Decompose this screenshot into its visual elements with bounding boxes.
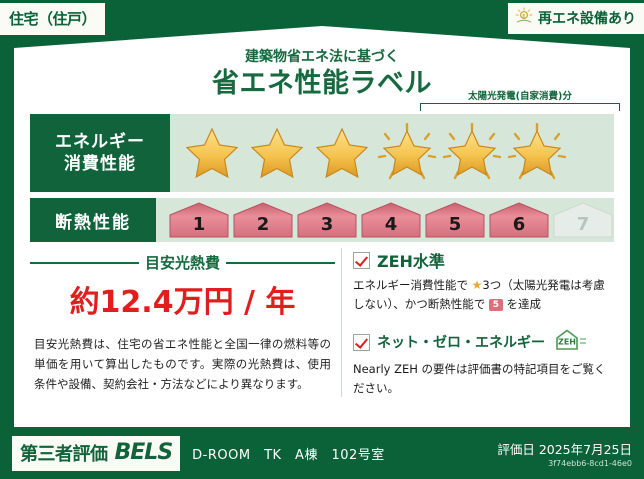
renewable-badge-label: 再エネ設備あり xyxy=(538,8,636,28)
insulation-level-house: 2 xyxy=(232,201,294,239)
insulation-level-scale: 1 2 3 4 xyxy=(168,201,614,239)
zeh-netzero-body: Nearly ZEH の要件は評価書の特記項目をご覧ください。 xyxy=(353,360,614,397)
insulation-level-house: 1 xyxy=(168,201,230,239)
estimated-cost-value: 約12.4万円 / 年 xyxy=(30,277,335,321)
insulation-level-house: 5 xyxy=(424,201,486,239)
insulation-level-house-inactive: 7 xyxy=(552,201,614,239)
star-icon xyxy=(180,122,244,184)
zeh-house-logo-icon: ZEH xyxy=(554,328,588,356)
evaluation-date: 評価日 2025年7月25日 xyxy=(497,439,632,458)
zeh-spacer xyxy=(353,314,614,328)
building-type-tag: 住宅（住戸） xyxy=(0,3,105,35)
property-name: D-ROOM TK A棟 102号室 xyxy=(192,444,385,463)
mini-star-icon: ★ xyxy=(472,278,483,292)
bels-badge: 第三者評価 BELS xyxy=(12,436,180,471)
bels-jp-label: 第三者評価 xyxy=(20,440,108,466)
title-subtitle: 建築物省エネ法に基づく xyxy=(14,50,630,65)
energy-performance-value: 太陽光発電(自家消費)分 xyxy=(170,114,614,192)
performance-rows: エネルギー 消費性能 太陽光発電(自家消費)分 xyxy=(30,114,614,242)
cost-section: 目安光熱費 約12.4万円 / 年 目安光熱費は、住宅の省エネ性能と全国一律の燃… xyxy=(30,248,335,397)
bels-en-label: BELS xyxy=(115,440,173,465)
insulation-level-number: 3 xyxy=(321,214,334,239)
insulation-level-number: 7 xyxy=(577,214,590,239)
check-icon xyxy=(353,334,370,351)
page-title: 省エネ性能ラベル xyxy=(14,67,630,101)
star-icon-solar xyxy=(375,122,439,184)
insulation-performance-label-box: 断熱性能 xyxy=(30,198,156,242)
cost-note: 目安光熱費は、住宅の省エネ性能と全国一律の燃料等の単価を用いて算出したものです。… xyxy=(30,335,335,394)
insulation-level-number: 5 xyxy=(449,214,462,239)
star-rating xyxy=(180,122,569,184)
renewable-equipment-badge: E 再エネ設備あり xyxy=(508,3,644,34)
zeh-netzero-title: ネット・ゼロ・エネルギー xyxy=(377,332,545,352)
lower-section: 目安光熱費 約12.4万円 / 年 目安光熱費は、住宅の省エネ性能と全国一律の燃… xyxy=(30,248,614,397)
svg-text:ZEH: ZEH xyxy=(558,338,576,347)
cost-heading: 目安光熱費 xyxy=(30,252,335,273)
insulation-level-house: 6 xyxy=(488,201,550,239)
zeh-standard-title: ZEH水準 xyxy=(377,248,445,272)
zeh-section: ZEH水準 エネルギー消費性能で ★3つ（太陽光発電は考慮しない）、かつ断熱性能… xyxy=(341,248,614,397)
check-icon xyxy=(353,252,370,269)
insulation-level-number: 4 xyxy=(385,214,398,239)
energy-performance-row: エネルギー 消費性能 太陽光発電(自家消費)分 xyxy=(30,114,614,192)
insulation-badge: 5 xyxy=(489,299,503,311)
insulation-level-number: 1 xyxy=(193,214,206,239)
solar-bracket xyxy=(420,103,620,111)
insulation-performance-value: 1 2 3 4 xyxy=(156,198,614,242)
star-icon-solar xyxy=(440,122,504,184)
zeh-standard-body-pre: エネルギー消費性能で xyxy=(353,278,472,292)
evaluation-id: 3f74ebb6-8cd1-46e0 xyxy=(497,459,632,468)
insulation-performance-row: 断熱性能 1 2 3 xyxy=(30,198,614,242)
title-block: 建築物省エネ法に基づく 省エネ性能ラベル xyxy=(14,50,630,101)
insulation-level-number: 2 xyxy=(257,214,270,239)
sun-icon: E xyxy=(514,7,534,29)
evaluation-info: 評価日 2025年7月25日 3f74ebb6-8cd1-46e0 xyxy=(497,439,632,468)
cost-heading-text: 目安光熱費 xyxy=(145,252,220,273)
zeh-standard-body-post: を達成 xyxy=(503,297,541,311)
energy-label-line1: エネルギー xyxy=(55,131,145,153)
zeh-standard-body: エネルギー消費性能で ★3つ（太陽光発電は考慮しない）、かつ断熱性能で 5 を達… xyxy=(353,276,614,314)
insulation-level-number: 6 xyxy=(513,214,526,239)
insulation-level-house: 3 xyxy=(296,201,358,239)
svg-text:E: E xyxy=(522,13,525,19)
cost-rule-right xyxy=(226,262,335,264)
star-icon xyxy=(310,122,374,184)
insulation-level-house: 4 xyxy=(360,201,422,239)
footer: 第三者評価 BELS D-ROOM TK A棟 102号室 評価日 2025年7… xyxy=(0,427,644,479)
zeh-netzero-heading: ネット・ゼロ・エネルギー ZEH xyxy=(353,328,614,356)
zeh-standard-heading: ZEH水準 xyxy=(353,248,614,272)
energy-performance-label-box: エネルギー 消費性能 xyxy=(30,114,170,192)
energy-performance-label: 住宅（住戸） E 再エネ設備あり 建築物省エネ法に基づく 省エネ性能ラベル xyxy=(0,0,644,479)
star-icon-solar xyxy=(505,122,569,184)
label-panel: 建築物省エネ法に基づく 省エネ性能ラベル エネルギー 消費性能 太陽光発電(自家… xyxy=(14,26,630,427)
star-icon xyxy=(245,122,309,184)
cost-rule-left xyxy=(30,262,139,264)
energy-label-line2: 消費性能 xyxy=(64,153,136,175)
